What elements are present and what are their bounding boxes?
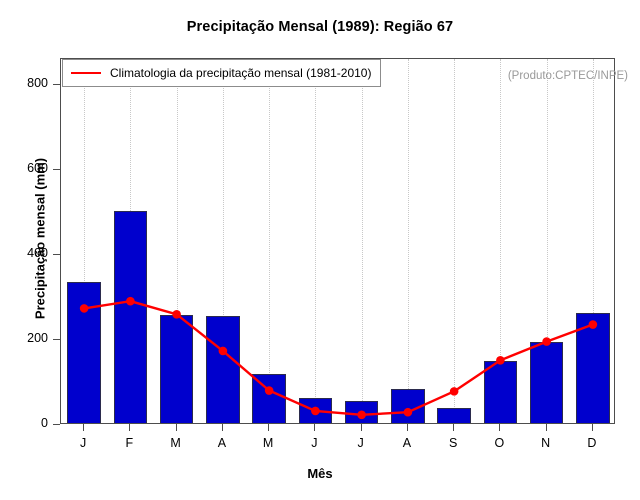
climatology-markers (80, 297, 597, 419)
x-tick-label-F-1: F (114, 436, 144, 450)
x-tick-label-A-3: A (207, 436, 237, 450)
x-tick-label-S-8: S (438, 436, 468, 450)
y-tick-mark (53, 339, 60, 340)
climatology-point-M-4 (265, 386, 274, 395)
y-tick-mark (53, 169, 60, 170)
x-tick-label-J-5: J (299, 436, 329, 450)
y-axis-title: Precipitação mensal (mm) (33, 89, 48, 389)
x-tick-label-A-7: A (392, 436, 422, 450)
x-tick-mark (222, 424, 223, 431)
x-tick-mark (407, 424, 408, 431)
climatology-point-N-10 (542, 337, 551, 346)
climatology-point-O-9 (496, 356, 505, 365)
climatology-point-F-1 (126, 297, 135, 306)
chart-title: Precipitação Mensal (1989): Região 67 (0, 19, 640, 35)
legend-label: Climatologia da precipitação mensal (198… (110, 66, 371, 80)
climatology-point-J-0 (80, 304, 89, 313)
climatology-point-M-2 (172, 310, 181, 319)
x-tick-label-M-4: M (253, 436, 283, 450)
climatology-point-A-7 (404, 408, 413, 417)
plot-area (60, 58, 615, 424)
y-tick-mark (53, 84, 60, 85)
y-tick-mark (53, 254, 60, 255)
x-tick-mark (592, 424, 593, 431)
climatology-point-S-8 (450, 387, 459, 396)
climatology-point-A-3 (219, 347, 228, 356)
x-axis-title: Mês (0, 466, 640, 481)
x-tick-mark (129, 424, 130, 431)
y-tick-label: 0 (8, 416, 48, 430)
legend: Climatologia da precipitação mensal (198… (62, 59, 381, 87)
x-tick-label-J-0: J (68, 436, 98, 450)
chart-figure: Precipitação Mensal (1989): Região 67 02… (0, 0, 640, 500)
x-tick-mark (268, 424, 269, 431)
x-tick-label-J-6: J (346, 436, 376, 450)
climatology-point-D-11 (589, 320, 598, 329)
x-tick-mark (499, 424, 500, 431)
x-tick-mark (546, 424, 547, 431)
y-tick-label: 800 (8, 76, 48, 90)
x-tick-mark (361, 424, 362, 431)
x-tick-label-O-9: O (484, 436, 514, 450)
x-tick-mark (83, 424, 84, 431)
climatology-point-J-6 (357, 410, 366, 419)
x-tick-mark (314, 424, 315, 431)
x-tick-label-M-2: M (161, 436, 191, 450)
climatology-point-J-5 (311, 407, 320, 416)
climatology-line-series (61, 59, 615, 424)
x-tick-label-N-10: N (531, 436, 561, 450)
x-tick-label-D-11: D (577, 436, 607, 450)
y-tick-mark (53, 424, 60, 425)
climatology-polyline (84, 301, 593, 415)
attribution-text: (Produto:CPTEC/INPE) (508, 70, 628, 82)
x-tick-mark (453, 424, 454, 431)
x-tick-mark (176, 424, 177, 431)
legend-line-swatch-icon (71, 72, 101, 74)
